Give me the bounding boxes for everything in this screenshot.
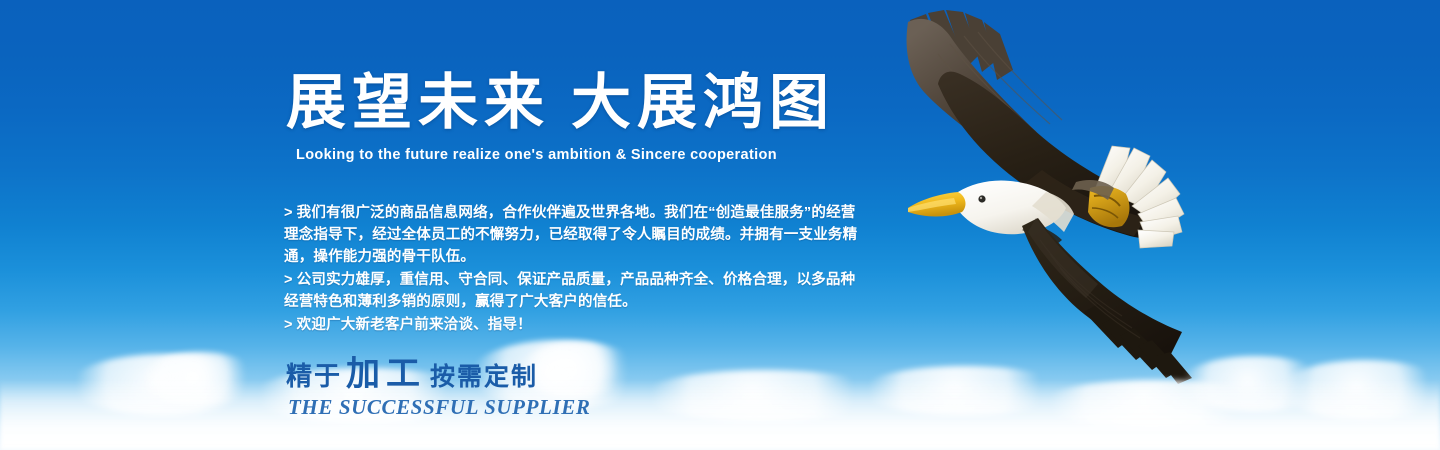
description-paragraph: >我们有很广泛的商品信息网络，合作伙伴遍及世界各地。我们在“创造最佳服务”的经营… (284, 202, 864, 268)
description-paragraph: >公司实力雄厚，重信用、守合同、保证产品质量，产品品种齐全、价格合理，以多品种经… (284, 269, 864, 313)
cloud-puff (1280, 360, 1440, 420)
slogan-part-three: 按需定制 (430, 364, 538, 391)
description-text: 欢迎广大新老客户前来洽谈、指导！ (297, 317, 532, 333)
company-slogan-english: THE SUCCESSFUL SUPPLIER (288, 395, 590, 420)
company-description: >我们有很广泛的商品信息网络，合作伙伴遍及世界各地。我们在“创造最佳服务”的经营… (284, 202, 864, 336)
slogan-part-two: 加工 (342, 356, 430, 393)
bald-eagle-image (846, 0, 1266, 396)
description-text: 公司实力雄厚，重信用、守合同、保证产品质量，产品品种齐全、价格合理，以多品种经营… (284, 272, 855, 310)
page-title: 展望未来 大展鸿图 (286, 72, 835, 134)
page-subtitle: Looking to the future realize one's ambi… (296, 147, 777, 163)
description-text: 我们有很广泛的商品信息网络，合作伙伴遍及世界各地。我们在“创造最佳服务”的经营理… (284, 205, 857, 265)
bullet-marker: > (284, 317, 293, 333)
bullet-marker: > (284, 272, 293, 288)
description-paragraph: >欢迎广大新老客户前来洽谈、指导！ (284, 314, 864, 336)
cloud-puff (140, 352, 260, 406)
eagle-eye (978, 195, 985, 202)
cloud-puff (70, 354, 260, 416)
slogan-part-one: 精于 (286, 362, 342, 391)
hero-banner: 展望未来 大展鸿图 Looking to the future realize … (0, 0, 1440, 450)
bullet-marker: > (284, 205, 293, 221)
company-slogan: 精于加工按需定制 (286, 358, 538, 398)
